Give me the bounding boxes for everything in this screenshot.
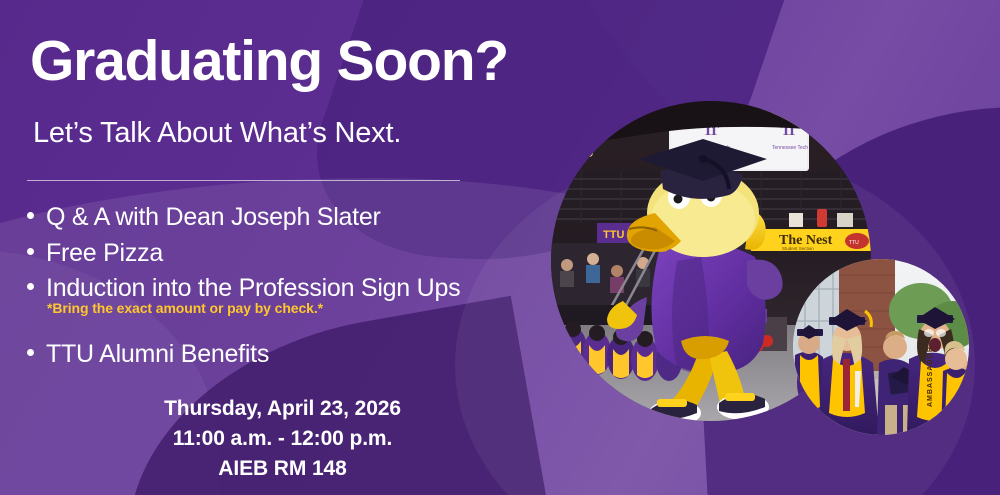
- list-item-label: Free Pizza: [46, 236, 163, 272]
- divider-rule: [27, 180, 460, 181]
- svg-text:Student Section: Student Section: [782, 246, 814, 251]
- svg-text:TTU: TTU: [849, 240, 859, 246]
- graduates-photo-inner: AMBASSADOR: [793, 259, 969, 435]
- flyer-canvas: T T Tennessee Tech T T Tennessee Tech: [0, 0, 1000, 495]
- list-item-label: Q & A with Dean Joseph Slater: [46, 200, 381, 236]
- list-item-label: TTU Alumni Benefits: [46, 337, 269, 373]
- graduates-walking-photo: AMBASSADOR: [790, 256, 972, 438]
- svg-text:TTU: TTU: [603, 229, 624, 241]
- event-location: AIEB RM 148: [0, 454, 565, 484]
- graduates-photo-artwork: AMBASSADOR: [793, 259, 969, 435]
- list-item: Q & A with Dean Joseph Slater: [27, 200, 552, 236]
- event-date: Thursday, April 23, 2026: [0, 394, 565, 424]
- event-details: Thursday, April 23, 2026 11:00 a.m. - 12…: [0, 394, 565, 483]
- bullet-dot-icon: [27, 349, 34, 356]
- event-time: 11:00 a.m. - 12:00 p.m.: [0, 424, 565, 454]
- list-item: Free Pizza: [27, 236, 552, 272]
- bullet-dot-icon: [27, 248, 34, 255]
- event-highlights-list: Q & A with Dean Joseph Slater Free Pizza…: [27, 200, 552, 372]
- svg-text:AMBASSADOR: AMBASSADOR: [927, 346, 934, 407]
- svg-text:Tennessee Tech: Tennessee Tech: [772, 145, 808, 151]
- page-title: Graduating Soon?: [30, 33, 508, 90]
- payment-note: *Bring the exact amount or pay by check.…: [47, 300, 323, 316]
- flyer-text-content: Graduating Soon? Let’s Talk About What’s…: [0, 0, 560, 495]
- page-subtitle: Let’s Talk About What’s Next.: [33, 118, 401, 150]
- list-item: TTU Alumni Benefits: [27, 337, 552, 373]
- bullet-dot-icon: [27, 212, 34, 219]
- bullet-dot-icon: [27, 283, 34, 290]
